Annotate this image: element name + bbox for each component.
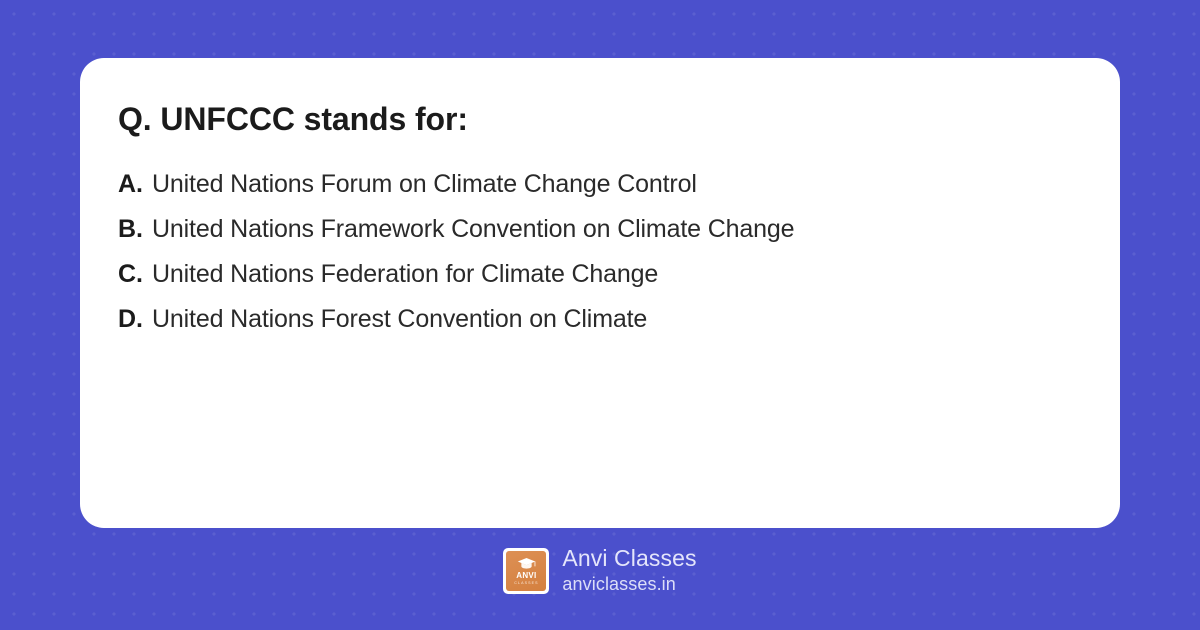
brand-text-block: Anvi Classes anviclasses.in <box>562 545 696 596</box>
quiz-card: Q. UNFCCC stands for: A. United Nations … <box>80 58 1120 528</box>
option-text-b: United Nations Framework Convention on C… <box>152 207 794 252</box>
brand-logo-tile: ANVI CLASSES <box>506 551 546 591</box>
option-letter-b: B. <box>118 207 143 252</box>
question-text: Q. UNFCCC stands for: <box>118 100 1082 138</box>
answer-options-list: A. United Nations Forum on Climate Chang… <box>118 162 1082 342</box>
answer-option-c[interactable]: C. United Nations Federation for Climate… <box>118 252 1082 297</box>
brand-logo-sub: CLASSES <box>514 580 538 586</box>
option-text-c: United Nations Federation for Climate Ch… <box>152 252 658 297</box>
answer-option-d[interactable]: D. United Nations Forest Convention on C… <box>118 297 1082 342</box>
option-letter-a: A. <box>118 162 143 207</box>
brand-logo-name: ANVI <box>516 571 536 580</box>
answer-option-b[interactable]: B. United Nations Framework Convention o… <box>118 207 1082 252</box>
brand-name: Anvi Classes <box>562 545 696 572</box>
answer-option-a[interactable]: A. United Nations Forum on Climate Chang… <box>118 162 1082 207</box>
option-text-a: United Nations Forum on Climate Change C… <box>152 162 697 207</box>
option-text-d: United Nations Forest Convention on Clim… <box>152 297 647 342</box>
brand-url[interactable]: anviclasses.in <box>562 572 696 596</box>
graduation-cap-icon <box>517 557 536 570</box>
brand-logo: ANVI CLASSES <box>503 548 549 594</box>
option-letter-c: C. <box>118 252 143 297</box>
option-letter-d: D. <box>118 297 143 342</box>
footer-branding: ANVI CLASSES Anvi Classes anviclasses.in <box>0 545 1200 596</box>
